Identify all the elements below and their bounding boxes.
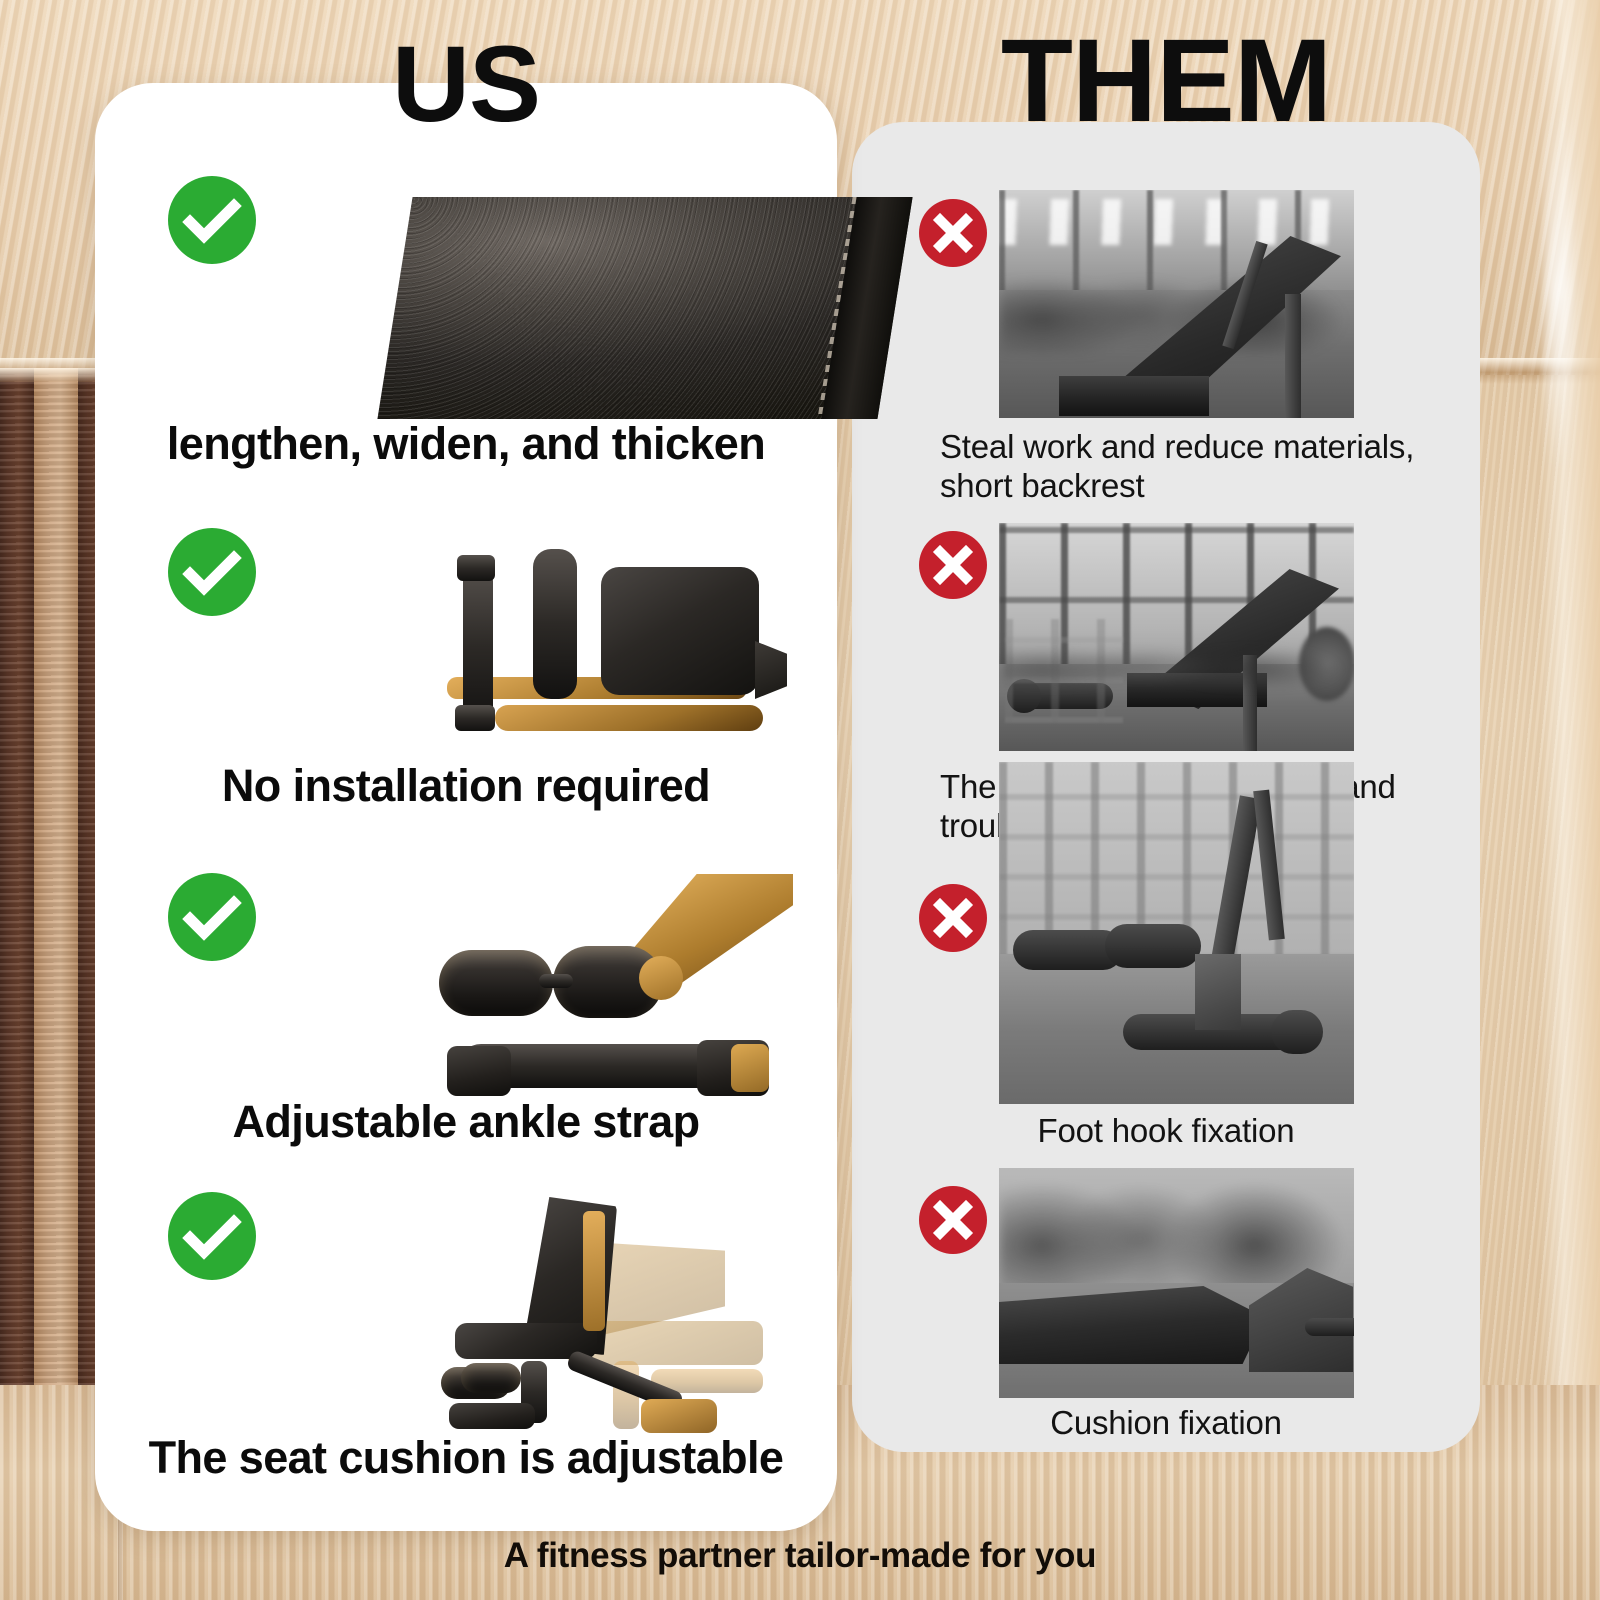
wall-light-glare xyxy=(1546,110,1572,470)
check-circle-icon xyxy=(168,176,256,264)
cross-circle-icon xyxy=(919,199,987,267)
gym-bench-installation-photo xyxy=(999,523,1354,751)
cross-circle-icon xyxy=(919,1186,987,1254)
adjustable-ankle-roller-image xyxy=(425,868,797,1096)
us-row-caption: lengthen, widen, and thicken xyxy=(95,418,837,470)
them-row-caption: Foot hook fixation xyxy=(866,1112,1466,1151)
cross-circle-icon xyxy=(919,884,987,952)
foot-hook-fixation-photo xyxy=(999,762,1354,1104)
cushion-fixation-photo xyxy=(999,1168,1354,1398)
cross-circle-icon xyxy=(919,531,987,599)
them-row-caption: Steal work and reduce materials, short b… xyxy=(940,428,1460,506)
footer-tagline: A fitness partner tailor-made for you xyxy=(0,1536,1600,1576)
check-circle-icon xyxy=(168,528,256,616)
check-circle-icon xyxy=(168,873,256,961)
us-row-caption: The seat cushion is adjustable xyxy=(95,1432,837,1484)
folded-bench-no-install-image xyxy=(425,537,795,752)
gym-short-backrest-bench-photo xyxy=(999,190,1354,418)
us-heading: US xyxy=(95,30,837,138)
check-circle-icon xyxy=(168,1192,256,1280)
adjustable-seat-bench-image xyxy=(435,1185,811,1433)
thick-leather-cushion-closeup-image xyxy=(377,197,912,419)
us-row-caption: Adjustable ankle strap xyxy=(95,1096,837,1148)
them-heading: THEM xyxy=(852,22,1480,140)
us-row-caption: No installation required xyxy=(95,760,837,812)
them-row-caption: Cushion fixation xyxy=(866,1404,1466,1443)
